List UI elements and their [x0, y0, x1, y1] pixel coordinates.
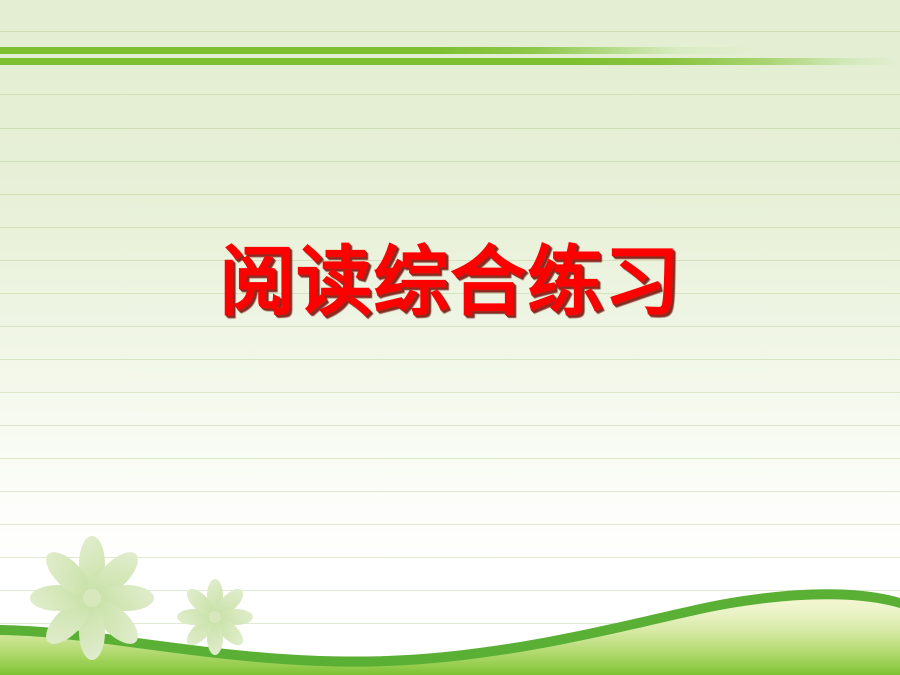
flower-large: [30, 536, 154, 660]
rule-line-0: [0, 31, 900, 32]
rule-line-2: [0, 128, 900, 129]
rule-line-8: [0, 326, 900, 327]
header-bar-lower: [0, 58, 900, 65]
flower-large-center: [83, 589, 101, 607]
rule-line-10: [0, 392, 900, 393]
rule-line-6: [0, 260, 900, 261]
rule-line-11: [0, 425, 900, 426]
flower-small-center: [209, 611, 221, 623]
header-bar-upper: [0, 47, 760, 54]
rule-line-3: [0, 161, 900, 162]
rule-line-12: [0, 458, 900, 459]
footer-decoration: [0, 530, 900, 675]
rule-line-13: [0, 491, 900, 492]
rule-line-7: [0, 293, 900, 294]
rule-line-9: [0, 359, 900, 360]
rule-line-1: [0, 94, 900, 95]
slide-canvas: 阅读综合练习: [0, 0, 900, 675]
rule-line-4: [0, 194, 900, 195]
flower-small: [177, 579, 253, 655]
rule-line-14: [0, 524, 900, 525]
rule-line-5: [0, 227, 900, 228]
